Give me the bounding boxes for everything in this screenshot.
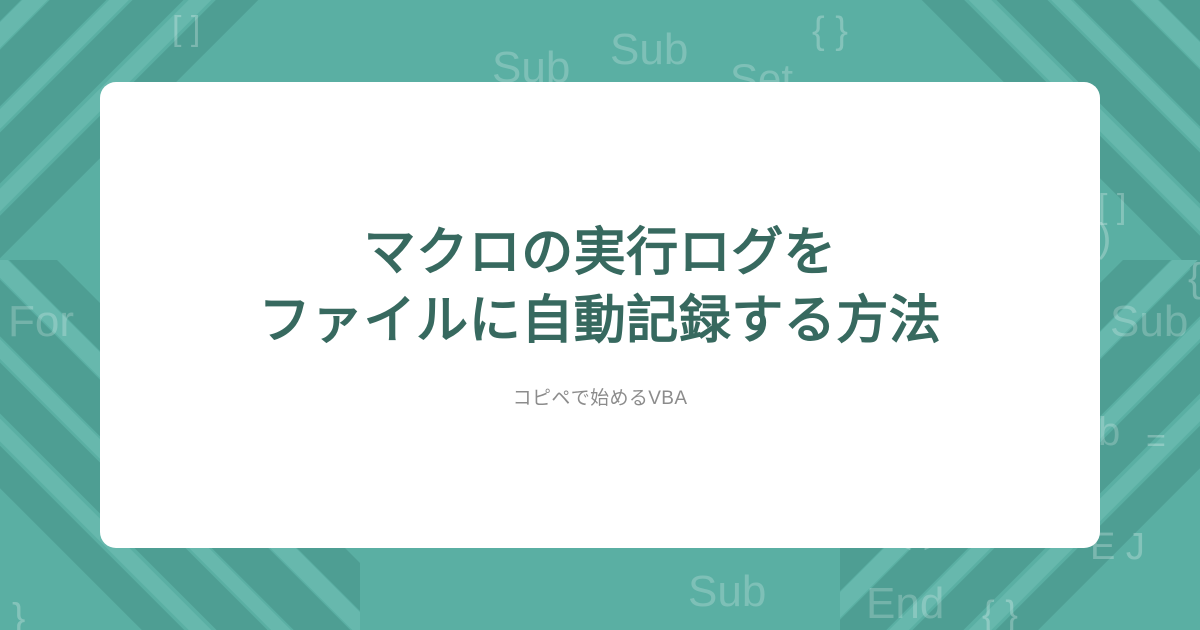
code-keyword: End: [866, 582, 944, 626]
code-keyword: For: [8, 300, 74, 344]
page-title-line-1: マクロの実行ログを: [259, 220, 942, 288]
code-keyword: {: [1188, 258, 1200, 298]
content-card: マクロの実行ログを ファイルに自動記録する方法 コピペで始めるVBA: [100, 82, 1100, 548]
code-keyword: b: [1098, 412, 1120, 452]
page-title-line-2: ファイルに自動記録する方法: [259, 288, 942, 356]
code-keyword: [ ]: [172, 12, 200, 46]
page-subtitle: コピペで始めるVBA: [513, 383, 688, 410]
code-keyword: }: [12, 598, 25, 630]
code-keyword: { }: [812, 12, 848, 50]
code-keyword: { }: [982, 596, 1018, 630]
code-keyword: Sub: [688, 570, 766, 614]
code-keyword: Sub: [610, 28, 688, 72]
code-keyword: Sub: [1110, 300, 1188, 344]
page-title: マクロの実行ログを ファイルに自動記録する方法: [259, 220, 942, 355]
code-keyword: =: [1146, 424, 1166, 458]
